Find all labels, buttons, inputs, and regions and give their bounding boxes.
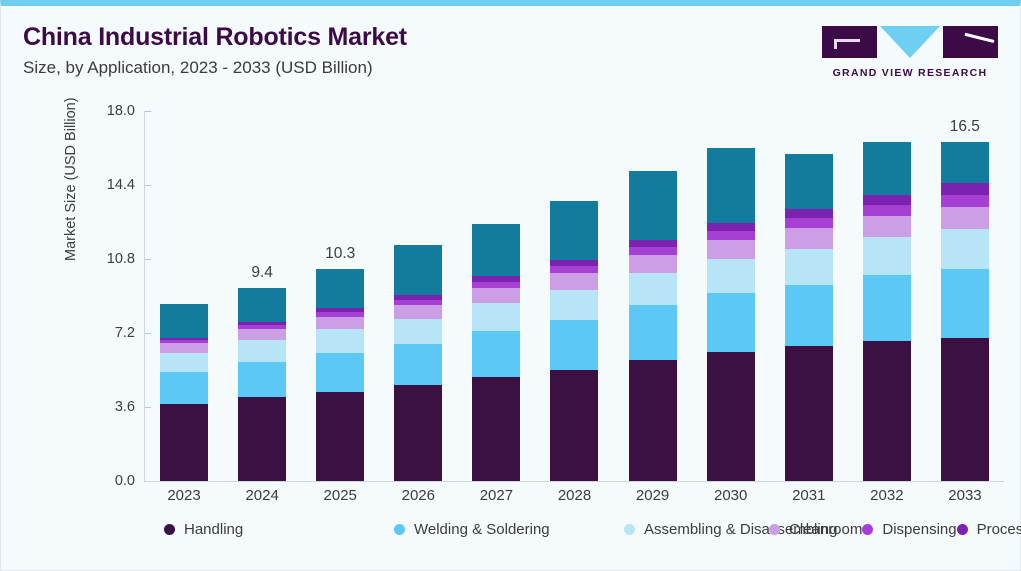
legend-item[interactable]: Assembling & Disassembling bbox=[624, 521, 769, 538]
bar-segment[interactable] bbox=[707, 148, 755, 223]
legend-color-swatch-icon bbox=[164, 524, 175, 535]
bar-stack bbox=[160, 304, 208, 481]
bar-segment[interactable] bbox=[863, 275, 911, 341]
bar-segment[interactable] bbox=[394, 385, 442, 481]
bar-segment[interactable] bbox=[160, 353, 208, 373]
bar-segment[interactable] bbox=[629, 305, 677, 359]
bar-segment[interactable] bbox=[785, 346, 833, 481]
page-title: China Industrial Robotics Market bbox=[23, 24, 407, 52]
bar-segment[interactable] bbox=[863, 195, 911, 205]
legend-item[interactable]: Cleanroom bbox=[769, 521, 862, 538]
bar-segment[interactable] bbox=[941, 229, 989, 269]
y-tick-label: 10.8 bbox=[102, 251, 144, 267]
bar-segment[interactable] bbox=[472, 377, 520, 481]
gvr-triangle-icon bbox=[880, 26, 940, 58]
bar-stack bbox=[238, 288, 286, 481]
y-tick-label: 0.0 bbox=[102, 473, 144, 489]
bar-segment[interactable] bbox=[629, 247, 677, 255]
bar-segment[interactable] bbox=[160, 304, 208, 338]
bar-stack bbox=[707, 148, 755, 481]
bar-segment[interactable] bbox=[394, 344, 442, 385]
x-tick-label: 2023 bbox=[167, 487, 200, 504]
legend-label: Dispensing bbox=[882, 521, 956, 538]
bar-segment[interactable] bbox=[550, 320, 598, 370]
bar-segment[interactable] bbox=[707, 352, 755, 482]
x-tick-label: 2032 bbox=[870, 487, 903, 504]
x-tick-label: 2033 bbox=[948, 487, 981, 504]
bar-segment[interactable] bbox=[316, 392, 364, 481]
logo-text: GRAND VIEW RESEARCH bbox=[822, 67, 998, 79]
bar-segment[interactable] bbox=[785, 218, 833, 228]
bar-segment[interactable] bbox=[863, 237, 911, 275]
bar-segment[interactable] bbox=[785, 285, 833, 347]
legend-color-swatch-icon bbox=[862, 524, 873, 535]
bar-segment[interactable] bbox=[238, 288, 286, 322]
bar-segment[interactable] bbox=[785, 154, 833, 209]
bar-segment[interactable] bbox=[394, 319, 442, 345]
bar-stack bbox=[394, 245, 442, 481]
bar-segment[interactable] bbox=[863, 216, 911, 238]
legend-item[interactable]: Processing bbox=[957, 521, 1021, 538]
bar-segment[interactable] bbox=[629, 255, 677, 274]
bar-segment[interactable] bbox=[550, 273, 598, 289]
legend-color-swatch-icon bbox=[769, 524, 780, 535]
legend-item[interactable]: Dispensing bbox=[862, 521, 956, 538]
x-tick-label: 2028 bbox=[558, 487, 591, 504]
bar-segment[interactable] bbox=[394, 245, 442, 295]
bar-segment[interactable] bbox=[550, 201, 598, 259]
legend-item[interactable]: Handling bbox=[164, 521, 394, 538]
bar-segment[interactable] bbox=[707, 293, 755, 352]
bar-segment[interactable] bbox=[160, 372, 208, 404]
bar-segment[interactable] bbox=[238, 340, 286, 362]
bar-stack bbox=[472, 224, 520, 481]
x-tick-label: 2024 bbox=[245, 487, 278, 504]
chart-subtitle: Size, by Application, 2023 - 2033 (USD B… bbox=[23, 59, 407, 78]
bar-column[interactable]: 9.4 bbox=[238, 111, 286, 481]
x-tick-label: 2029 bbox=[636, 487, 669, 504]
x-tick-label: 2026 bbox=[402, 487, 435, 504]
bar-value-label: 10.3 bbox=[325, 245, 355, 263]
bar-segment[interactable] bbox=[316, 269, 364, 308]
legend-label: Welding & Soldering bbox=[414, 521, 550, 538]
bar-segment[interactable] bbox=[629, 240, 677, 247]
bar-column[interactable]: 10.3 bbox=[316, 111, 364, 481]
y-axis-label: Market Size (USD Billion) bbox=[63, 97, 79, 261]
bar-stack bbox=[785, 154, 833, 481]
bar-segment[interactable] bbox=[629, 360, 677, 481]
brand-logo: GRAND VIEW RESEARCH bbox=[822, 26, 998, 79]
plot-area: Market Size (USD Billion) 0.03.67.210.81… bbox=[1, 101, 1021, 496]
bar-column[interactable] bbox=[394, 111, 442, 481]
y-tick-label: 3.6 bbox=[102, 399, 144, 415]
bar-segment[interactable] bbox=[238, 362, 286, 397]
y-tick-label: 18.0 bbox=[102, 103, 144, 119]
bar-column[interactable] bbox=[160, 111, 208, 481]
bar-column[interactable] bbox=[550, 111, 598, 481]
bar-column[interactable] bbox=[863, 111, 911, 481]
bar-segment[interactable] bbox=[316, 317, 364, 329]
legend-label: Cleanroom bbox=[789, 521, 862, 538]
bar-value-label: 9.4 bbox=[251, 264, 273, 282]
y-tick-label: 7.2 bbox=[102, 325, 144, 341]
bar-segment[interactable] bbox=[472, 303, 520, 331]
bar-segment[interactable] bbox=[785, 228, 833, 249]
bar-segment[interactable] bbox=[863, 142, 911, 195]
bar-segment[interactable] bbox=[629, 171, 677, 240]
bar-segment[interactable] bbox=[550, 370, 598, 481]
logo-mark bbox=[822, 26, 998, 60]
x-tick-label: 2031 bbox=[792, 487, 825, 504]
bar-stack bbox=[316, 269, 364, 481]
bar-segment[interactable] bbox=[629, 273, 677, 305]
y-tick-label: 14.4 bbox=[102, 177, 144, 193]
bar-segment[interactable] bbox=[863, 205, 911, 216]
legend-label: Handling bbox=[184, 521, 243, 538]
bar-segment[interactable] bbox=[863, 341, 911, 481]
bar-stack bbox=[941, 142, 989, 481]
bar-segment[interactable] bbox=[785, 249, 833, 285]
bar-segment[interactable] bbox=[238, 329, 286, 340]
bar-column[interactable] bbox=[707, 111, 755, 481]
bar-segment[interactable] bbox=[707, 259, 755, 293]
bar-column[interactable] bbox=[785, 111, 833, 481]
legend-color-swatch-icon bbox=[394, 524, 405, 535]
bar-segment[interactable] bbox=[941, 338, 989, 481]
x-tick-label: 2030 bbox=[714, 487, 747, 504]
bar-segment[interactable] bbox=[472, 288, 520, 303]
bar-segment[interactable] bbox=[160, 343, 208, 352]
gvr-right-block-icon bbox=[943, 26, 998, 58]
bar-group: 9.410.316.5 bbox=[145, 111, 1004, 481]
bar-segment[interactable] bbox=[394, 305, 442, 318]
bar-segment[interactable] bbox=[160, 404, 208, 481]
bar-column[interactable]: 16.5 bbox=[941, 111, 989, 481]
bar-segment[interactable] bbox=[941, 142, 989, 184]
bar-stack bbox=[550, 201, 598, 481]
bar-segment[interactable] bbox=[472, 224, 520, 276]
legend-color-swatch-icon bbox=[624, 524, 635, 535]
legend-label: Processing bbox=[977, 521, 1021, 538]
bar-value-label: 16.5 bbox=[950, 118, 980, 136]
bar-segment[interactable] bbox=[941, 269, 989, 338]
bar-stack bbox=[629, 171, 677, 481]
bar-segment[interactable] bbox=[941, 183, 989, 194]
bar-segment[interactable] bbox=[316, 329, 364, 353]
bar-segment[interactable] bbox=[707, 223, 755, 231]
bar-segment[interactable] bbox=[785, 209, 833, 218]
bar-segment[interactable] bbox=[238, 397, 286, 481]
bar-segment[interactable] bbox=[941, 207, 989, 230]
x-axis-line bbox=[144, 481, 1004, 482]
x-tick-label: 2025 bbox=[324, 487, 357, 504]
chart-legend: HandlingWelding & SolderingAssembling & … bbox=[164, 518, 994, 541]
legend-color-swatch-icon bbox=[957, 524, 968, 535]
bar-segment[interactable] bbox=[707, 240, 755, 260]
legend-item[interactable]: Welding & Soldering bbox=[394, 521, 624, 538]
chart-card: China Industrial Robotics Market Size, b… bbox=[0, 0, 1021, 571]
bar-segment[interactable] bbox=[550, 290, 598, 320]
chart-header: China Industrial Robotics Market Size, b… bbox=[23, 24, 407, 77]
gvr-left-block-icon bbox=[822, 26, 877, 58]
bar-segment[interactable] bbox=[472, 331, 520, 377]
bar-segment[interactable] bbox=[550, 266, 598, 273]
bar-segment[interactable] bbox=[316, 353, 364, 392]
bar-stack bbox=[863, 142, 911, 481]
x-tick-label: 2027 bbox=[480, 487, 513, 504]
bar-column[interactable] bbox=[629, 111, 677, 481]
bar-segment[interactable] bbox=[941, 195, 989, 207]
bar-segment[interactable] bbox=[707, 231, 755, 240]
bar-column[interactable] bbox=[472, 111, 520, 481]
